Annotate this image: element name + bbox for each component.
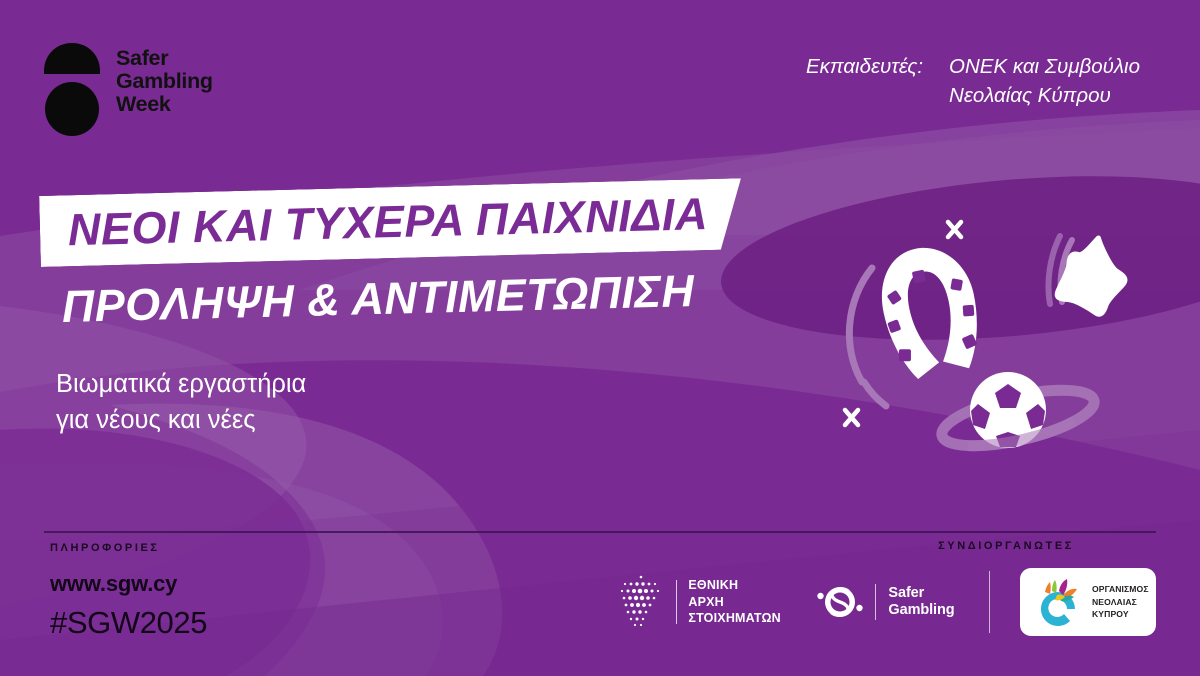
logo-line-3: Week — [116, 93, 213, 116]
nba-line-2: ΑΡΧΗ — [688, 594, 781, 611]
poster-canvas: Safer Gambling Week Εκπαιδευτές: ΟΝΕΚ κα… — [0, 0, 1200, 676]
subtitle-line-2: για νέους και νέες — [56, 402, 306, 438]
partner-name-onek: ΟΡΓΑΝΙΣΜΟΣ ΝΕΟΛΑΙΑΣ ΚΥΠΡΟΥ — [1092, 583, 1149, 620]
safer-gambling-week-logo: Safer Gambling Week — [42, 40, 213, 136]
footer-divider — [44, 531, 1156, 533]
partner-name-safer-gambling: Safer Gambling — [888, 585, 954, 620]
trainers-value-line-2: Νεολαίας Κύπρου — [949, 81, 1140, 110]
info-kicker: ΠΛΗΡΟΦΟΡΙΕΣ — [50, 543, 207, 554]
nba-line-1: ΕΘΝΙΚΗ — [688, 577, 781, 594]
headline-line-2: ΠΡΟΛΗΨΗ & ΑΝΤΙΜΕΤΩΠΙΣΗ — [61, 268, 694, 329]
nba-line-3: ΣΤΟΙΧΗΜΑΤΩΝ — [688, 610, 781, 627]
headline-line-1: ΝΕΟΙ ΚΑΙ ΤΥΧΕΡΑ ΠΑΙΧΝΙΔΙΑ — [67, 191, 708, 252]
logo-line-2: Gambling — [116, 70, 213, 93]
sg-line-2: Gambling — [888, 602, 954, 619]
onek-line-3: ΚΥΠΡΟΥ — [1092, 608, 1149, 620]
sparkle-icon — [845, 410, 858, 425]
horseshoe-echo-arc — [849, 268, 886, 406]
onek-flame-icon — [1033, 578, 1083, 626]
football-orbit-icon — [937, 372, 1099, 457]
hashtag: #SGW2025 — [50, 607, 207, 638]
info-block: ΠΛΗΡΟΦΟΡΙΕΣ www.sgw.cy #SGW2025 — [50, 543, 207, 638]
partner-rule — [676, 580, 678, 624]
trainers-value-line-1: ΟΝΕΚ και Συμβούλιο — [949, 52, 1140, 81]
star-icon — [1055, 231, 1135, 319]
onek-line-1: ΟΡΓΑΝΙΣΜΟΣ — [1092, 583, 1149, 595]
partner-name-national-betting-authority: ΕΘΝΙΚΗ ΑΡΧΗ ΣΤΟΙΧΗΜΑΤΩΝ — [688, 577, 781, 627]
website-link[interactable]: www.sgw.cy — [50, 573, 207, 595]
trainers-credit: Εκπαιδευτές: ΟΝΕΚ και Συμβούλιο Νεολαίας… — [806, 52, 1140, 110]
partner-logo-row: ΕΘΝΙΚΗ ΑΡΧΗ ΣΤΟΙΧΗΜΑΤΩΝ Safer Gambling — [617, 568, 1156, 636]
trainers-value: ΟΝΕΚ και Συμβούλιο Νεολαίας Κύπρου — [949, 52, 1140, 110]
partner-rule — [875, 584, 877, 620]
sg-line-1: Safer — [888, 585, 954, 602]
partner-logo-onek: ΟΡΓΑΝΙΣΜΟΣ ΝΕΟΛΑΙΑΣ ΚΥΠΡΟΥ — [1020, 568, 1156, 636]
headline-block: ΝΕΟΙ ΚΑΙ ΤΥΧΕΡΑ ΠΑΙΧΝΙΔΙΑ ΠΡΟΛΗΨΗ & ΑΝΤΙ… — [0, 196, 860, 267]
safer-gambling-week-mark-icon — [42, 40, 102, 136]
partner-logo-safer-gambling: Safer Gambling — [817, 583, 955, 621]
coorganisers-kicker: ΣΥΝΔΙΟΡΓΑΝΩΤΕΣ — [938, 541, 1074, 552]
coorganisers-block: ΣΥΝΔΙΟΡΓΑΝΩΤΕΣ — [617, 541, 1156, 636]
safer-gambling-week-wordmark: Safer Gambling Week — [116, 40, 213, 115]
subtitle-line-1: Βιωματικά εργαστήρια — [56, 366, 306, 402]
onek-line-2: ΝΕΟΛΑΙΑΣ — [1092, 596, 1149, 608]
headline-banner: ΝΕΟΙ ΚΑΙ ΤΥΧΕΡΑ ΠΑΙΧΝΙΔΙΑ — [39, 178, 743, 267]
sparkle-icon — [948, 222, 961, 237]
dot-matrix-funnel-icon — [617, 574, 665, 630]
trainers-label: Εκπαιδευτές: — [806, 52, 923, 81]
star-echo-arc — [1048, 236, 1072, 304]
partner-group-separator — [989, 571, 991, 633]
safer-gambling-s-icon — [817, 583, 863, 621]
subtitle: Βιωματικά εργαστήρια για νέους και νέες — [56, 366, 306, 438]
partner-logo-national-betting-authority: ΕΘΝΙΚΗ ΑΡΧΗ ΣΤΟΙΧΗΜΑΤΩΝ — [617, 574, 781, 630]
horseshoe-icon — [872, 239, 989, 383]
logo-line-1: Safer — [116, 47, 213, 70]
